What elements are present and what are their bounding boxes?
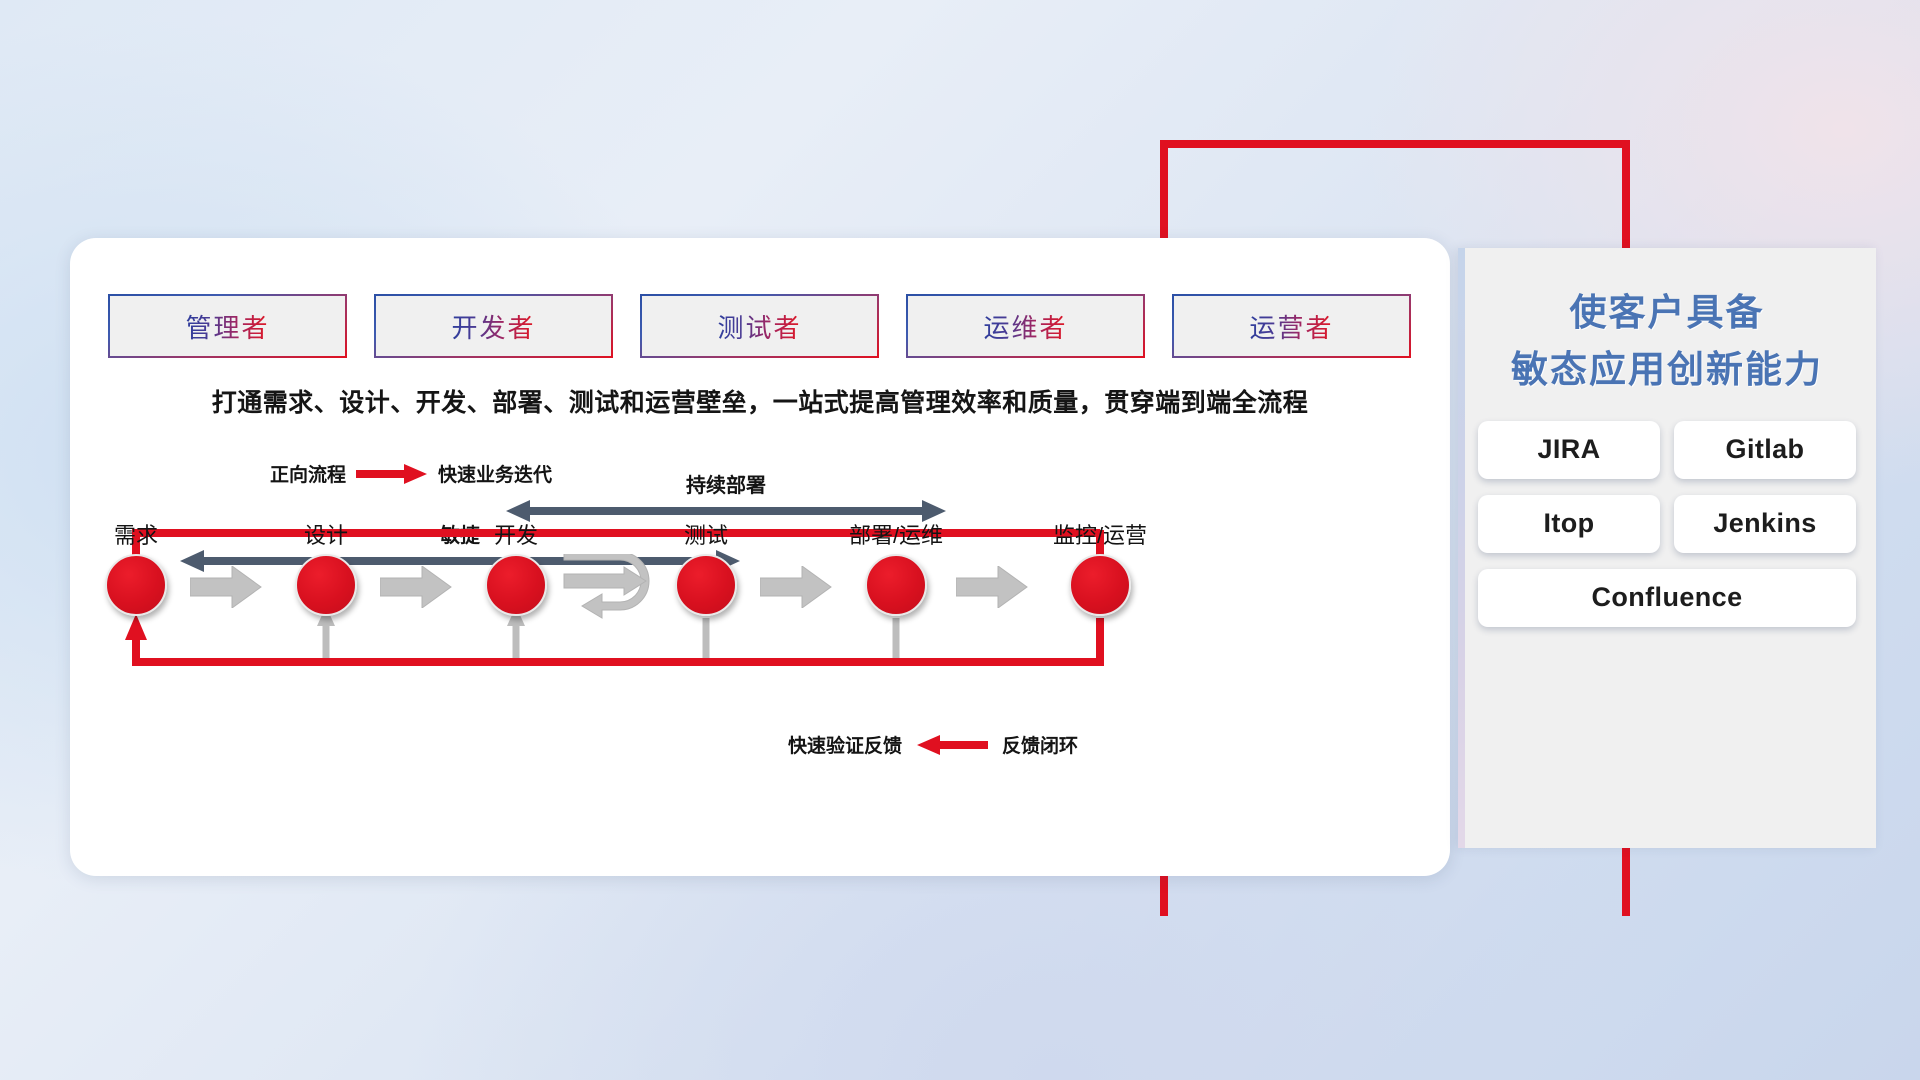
pipeline-node-dot xyxy=(1069,554,1131,616)
pipeline-node-label: 设计 xyxy=(304,518,348,550)
pipeline-node-dot xyxy=(675,554,737,616)
flow-chevron-icon xyxy=(760,566,832,608)
pipeline-node-dot xyxy=(295,554,357,616)
panel-title-line2: 敏态应用创新能力 xyxy=(1458,341,1876,398)
main-card: 管理者 开发者 测试者 运维者 运营者 打通需求、设计、开发、部署、测试和运营壁… xyxy=(70,238,1450,876)
pipeline-node-design[interactable]: 设计 xyxy=(295,554,357,616)
pipeline-node-monitor-operate[interactable]: 监控/运营 xyxy=(1069,554,1131,616)
panel-left-edge xyxy=(1458,248,1465,848)
pipeline-node-develop[interactable]: 开发 xyxy=(485,554,547,616)
pipeline-node-dot xyxy=(105,554,167,616)
tool-chip-jenkins[interactable]: Jenkins xyxy=(1674,495,1856,553)
rework-loop-icon xyxy=(562,554,662,620)
flow-chevron-icon xyxy=(190,566,262,608)
pipeline-node-dot xyxy=(485,554,547,616)
panel-title-line1: 使客户具备 xyxy=(1458,284,1876,341)
tool-chip-label: Gitlab xyxy=(1726,434,1805,465)
tool-chip-label: Itop xyxy=(1543,508,1594,539)
value-panel: 使客户具备 敏态应用创新能力 JIRA Gitlab Itop Jenkins … xyxy=(1458,248,1876,848)
pipeline-node-label: 部署/运维 xyxy=(849,518,943,550)
pipeline-node-deploy-ops[interactable]: 部署/运维 xyxy=(865,554,927,616)
tool-chip-gitlab[interactable]: Gitlab xyxy=(1674,421,1856,479)
pipeline-node-label: 监控/运营 xyxy=(1053,518,1147,550)
diagram-canvas: 管理者 开发者 测试者 运维者 运营者 打通需求、设计、开发、部署、测试和运营壁… xyxy=(0,0,1920,1080)
pipeline-node-requirements[interactable]: 需求 xyxy=(105,554,167,616)
panel-title: 使客户具备 敏态应用创新能力 xyxy=(1458,284,1876,399)
tool-chip-grid: JIRA Gitlab Itop Jenkins Confluence xyxy=(1458,421,1876,627)
pipeline-node-label: 开发 xyxy=(494,518,538,550)
tool-chip-label: Confluence xyxy=(1591,582,1742,613)
pipeline-node-dot xyxy=(865,554,927,616)
flow-chevron-icon xyxy=(956,566,1028,608)
pipeline-node-test[interactable]: 测试 xyxy=(675,554,737,616)
pipeline-node-label: 测试 xyxy=(684,518,728,550)
tool-chip-itop[interactable]: Itop xyxy=(1478,495,1660,553)
pipeline-node-label: 需求 xyxy=(114,518,158,550)
tool-chip-jira[interactable]: JIRA xyxy=(1478,421,1660,479)
red-feedback-loop xyxy=(70,238,1450,876)
tool-chip-label: JIRA xyxy=(1537,434,1600,465)
flow-chevron-icon xyxy=(380,566,452,608)
tool-chip-label: Jenkins xyxy=(1713,508,1816,539)
tool-chip-confluence[interactable]: Confluence xyxy=(1478,569,1856,627)
